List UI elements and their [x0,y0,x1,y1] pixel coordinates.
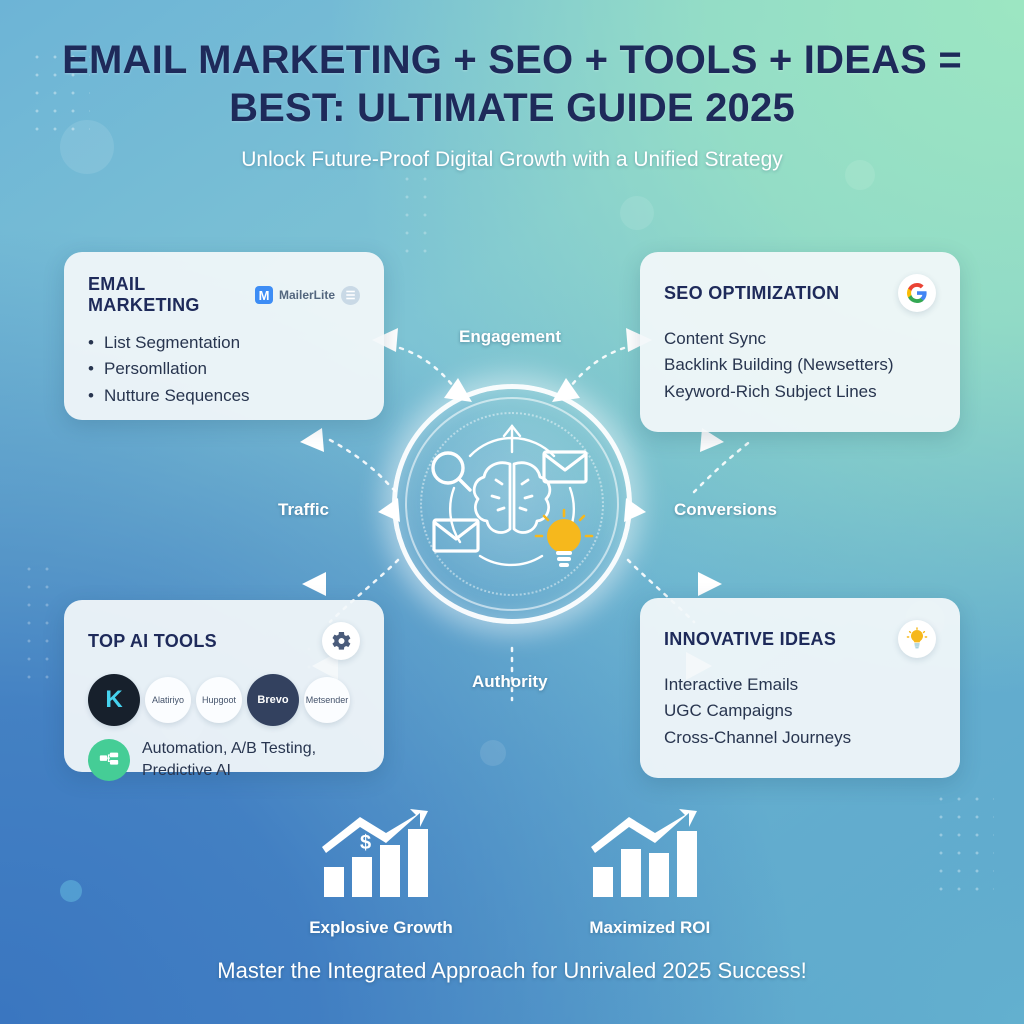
card-seo-optimization[interactable]: SEO OPTIMIZATION Content Sync Backlink B… [640,252,960,432]
mailerlite-logo: MailerLite ☰ [255,286,360,305]
card-top-ai-tools[interactable]: TOP AI TOOLS K Alatiriyo Hupgoot Brevo M… [64,600,384,772]
central-hub [392,384,632,624]
tool-badge-row: K Alatiriyo Hupgoot Brevo Metsender [88,674,360,726]
tools-note-text: Automation, A/B Testing, Predictive AI [142,738,360,783]
connector-label-engagement: Engagement [459,327,561,347]
list-item: Keyword-Rich Subject Lines [664,379,936,405]
envelope-icon [544,452,586,482]
growth-label: Explosive Growth [309,918,453,938]
growth-label: Maximized ROI [585,918,715,938]
ideas-list: Interactive Emails UGC Campaigns Cross-C… [664,672,936,751]
google-logo-icon [898,274,936,312]
list-item: UGC Campaigns [664,698,936,724]
dot-pattern-center-top [398,170,436,262]
list-item: Persomllation [88,356,360,382]
tools-note: Automation, A/B Testing, Predictive AI [88,738,360,783]
bar-chart-up-icon [585,805,715,905]
list-item: List Segmentation [88,330,360,356]
seo-list: Content Sync Backlink Building (Newsette… [664,326,936,405]
tool-badge-convertkit[interactable]: K [88,674,140,726]
list-item: Content Sync [664,326,936,352]
growth-metrics: $ Explosive Growth Maximized ROI [0,805,1024,938]
card-email-marketing[interactable]: EMAIL MARKETING MailerLite ☰ List Segmen… [64,252,384,420]
card-title-top-ai-tools: TOP AI TOOLS [88,631,217,652]
connector-label-conversions: Conversions [674,500,777,520]
card-header: EMAIL MARKETING MailerLite ☰ [88,274,360,316]
email-marketing-list: List Segmentation Persomllation Nutture … [88,330,360,409]
tool-badge-hupgoot[interactable]: Hupgoot [196,677,242,723]
page-header: EMAIL MARKETING + SEO + TOOLS + IDEAS = … [0,36,1024,172]
background-bubble [620,196,654,230]
tool-badge-metsender[interactable]: Metsender [304,677,350,723]
arrowhead [698,572,722,596]
growth-item-maximized-roi: Maximized ROI [585,805,715,938]
lightbulb-icon [898,620,936,658]
list-item: Backlink Building (Newsetters) [664,352,936,378]
connector-label-authority: Authority [472,672,548,692]
bar-chart-up-dollar-icon: $ [316,805,446,905]
card-header: TOP AI TOOLS [88,622,360,660]
page-title-line2: BEST: ULTIMATE GUIDE 2025 [0,84,1024,132]
growth-item-explosive-growth: $ Explosive Growth [309,805,453,938]
arrowhead [302,572,326,596]
mailerlite-label: MailerLite [279,288,335,302]
svg-text:$: $ [360,832,371,854]
list-item: Cross-Channel Journeys [664,725,936,751]
footer-tagline: Master the Integrated Approach for Unriv… [0,958,1024,984]
gear-icon[interactable] [322,622,360,660]
dot-pattern-left [20,560,60,690]
connector-label-traffic: Traffic [278,500,329,520]
page-subtitle: Unlock Future-Proof Digital Growth with … [0,148,1024,172]
search-icon [433,453,470,490]
card-title-email-marketing: EMAIL MARKETING [88,274,255,316]
list-item: Nutture Sequences [88,383,360,409]
arrowhead [300,428,324,452]
list-item: Interactive Emails [664,672,936,698]
background-bubble [480,740,506,766]
flow-arc-bottom [480,556,542,565]
tool-badge-brevo[interactable]: Brevo [247,674,299,726]
card-innovative-ideas[interactable]: INNOVATIVE IDEAS Interactive Emails UGC … [640,598,960,778]
automation-icon [88,739,130,781]
page-title-line1: EMAIL MARKETING + SEO + TOOLS + IDEAS = [0,36,1024,84]
card-header: SEO OPTIMIZATION [664,274,936,312]
badge-icon: ☰ [341,286,360,305]
card-title-seo-optimization: SEO OPTIMIZATION [664,283,839,304]
card-title-innovative-ideas: INNOVATIVE IDEAS [664,629,836,650]
brain-icon [474,463,550,533]
tool-badge-alatiriyo[interactable]: Alatiriyo [145,677,191,723]
card-header: INNOVATIVE IDEAS [664,620,936,658]
mailerlite-mark-icon [255,286,273,304]
